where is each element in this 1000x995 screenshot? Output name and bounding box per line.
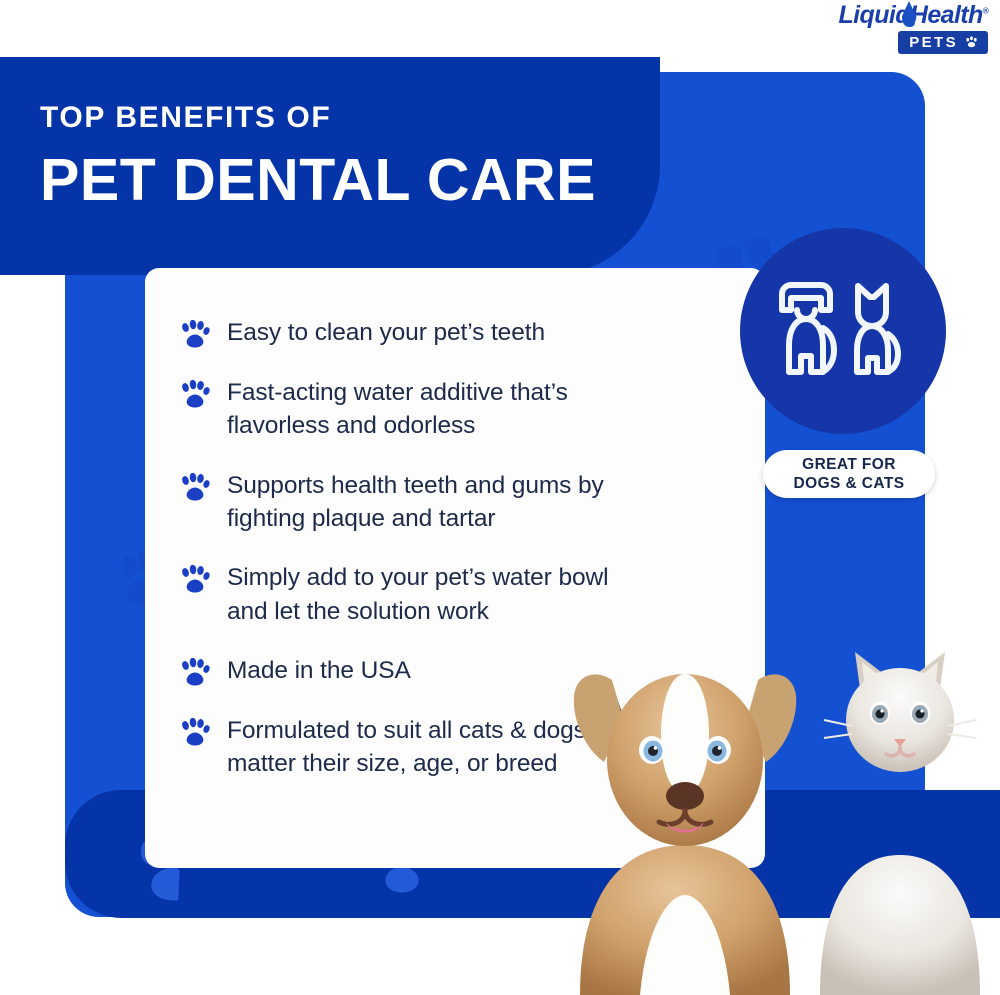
dog-and-cat-illustration bbox=[520, 600, 1000, 995]
benefit-text: Made in the USA bbox=[227, 654, 411, 687]
logo-word-right: Health bbox=[910, 1, 983, 29]
trademark-symbol: ® bbox=[983, 7, 988, 16]
benefit-text: Fast-acting water additive that’s flavor… bbox=[227, 376, 639, 443]
great-for-pill-badge: GREAT FOR DOGS & CATS bbox=[763, 450, 935, 498]
header-banner: TOP BENEFITS OF PET DENTAL CARE bbox=[0, 57, 660, 275]
benefit-text: Supports health teeth and gums by fighti… bbox=[227, 469, 639, 536]
list-item: Fast-acting water additive that’s flavor… bbox=[179, 376, 639, 443]
dog-outline-icon bbox=[782, 285, 834, 372]
paw-icon bbox=[964, 35, 979, 50]
list-item: Supports health teeth and gums by fighti… bbox=[179, 469, 639, 536]
cat-outline-icon bbox=[857, 286, 898, 372]
pets-label: PETS bbox=[909, 34, 958, 51]
dogs-and-cats-badge bbox=[740, 228, 946, 434]
paw-icon bbox=[179, 473, 211, 503]
pill-line-2: DOGS & CATS bbox=[794, 474, 905, 493]
benefit-text: Easy to clean your pet’s teeth bbox=[227, 316, 545, 349]
dog-cat-outline-icons bbox=[768, 276, 918, 386]
paw-icon bbox=[179, 718, 211, 748]
infographic-canvas: TOP BENEFITS OF PET DENTAL CARE LiquidHe… bbox=[0, 0, 1000, 995]
dog-figure bbox=[574, 674, 796, 995]
paw-icon bbox=[179, 320, 211, 350]
pets-photo bbox=[520, 600, 1000, 995]
page-title: PET DENTAL CARE bbox=[40, 150, 620, 212]
cat-figure bbox=[820, 652, 980, 995]
pill-line-1: GREAT FOR bbox=[802, 455, 896, 474]
pets-sub-badge: PETS bbox=[898, 31, 988, 54]
paw-icon bbox=[179, 658, 211, 688]
header-kicker: TOP BENEFITS OF bbox=[40, 101, 620, 134]
paw-icon bbox=[179, 565, 211, 595]
list-item: Easy to clean your pet’s teeth bbox=[179, 316, 639, 350]
logo-word-left: Liquid bbox=[839, 1, 910, 29]
paw-icon bbox=[179, 380, 211, 410]
logo-wordmark: LiquidHealth® bbox=[839, 3, 989, 28]
brand-logo[interactable]: LiquidHealth® PETS bbox=[812, 3, 988, 54]
